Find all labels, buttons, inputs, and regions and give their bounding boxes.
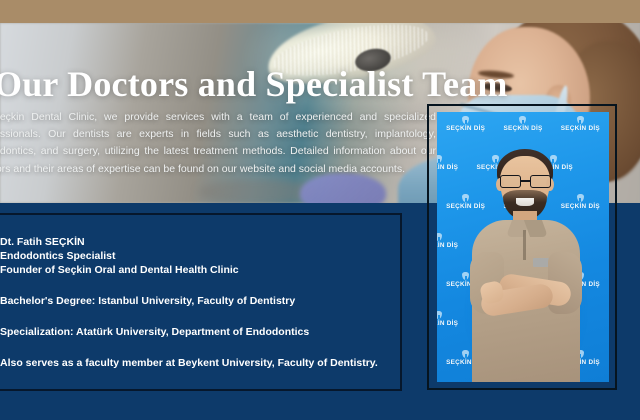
doctor-role: Endodontics Specialist xyxy=(0,249,388,263)
hero-description-text: At Seçkin Dental Clinic, we provide serv… xyxy=(0,109,436,178)
photo-frame-border xyxy=(427,104,617,390)
top-accent-bar xyxy=(0,0,640,23)
doctor-faculty-role: Also serves as a faculty member at Beyke… xyxy=(0,356,388,370)
doctor-bachelor-degree: Bachelor's Degree: Istanbul University, … xyxy=(0,294,388,308)
page-root: Our Doctors and Specialist Team At Seçki… xyxy=(0,0,640,420)
doctor-founder-line: Founder of Seçkin Oral and Dental Health… xyxy=(0,263,388,277)
hero-description: At Seçkin Dental Clinic, we provide serv… xyxy=(0,109,436,178)
doctor-specialization: Specialization: Atatürk University, Depa… xyxy=(0,325,388,339)
doctor-info-content: Dt. Fatih SEÇKİN Endodontics Specialist … xyxy=(0,215,404,393)
doctor-name: Dt. Fatih SEÇKİN xyxy=(0,235,388,249)
page-title: Our Doctors and Specialist Team xyxy=(0,63,508,105)
doctor-info-card: Dt. Fatih SEÇKİN Endodontics Specialist … xyxy=(0,213,402,391)
